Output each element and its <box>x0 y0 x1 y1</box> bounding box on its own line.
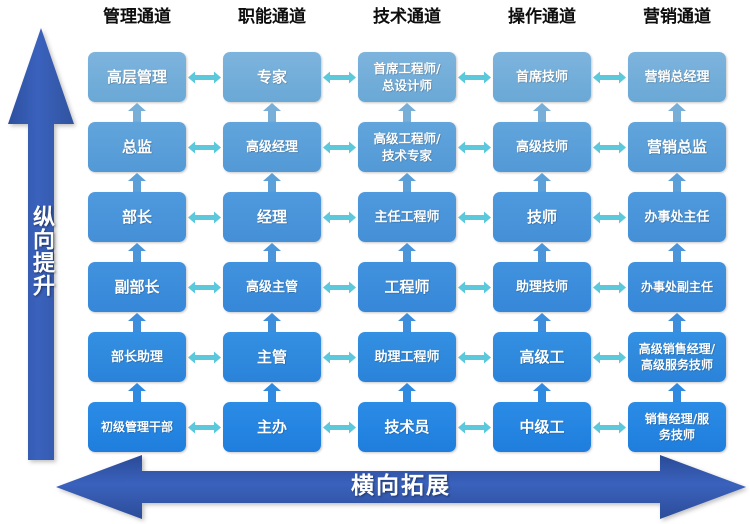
lateral-double-arrow-icon <box>593 421 626 434</box>
position-node[interactable]: 高级工程师/技术专家 <box>358 122 456 172</box>
position-node[interactable]: 主任工程师 <box>358 192 456 242</box>
position-node[interactable]: 专家 <box>223 52 321 102</box>
lateral-double-arrow-icon <box>458 421 491 434</box>
position-node[interactable]: 技师 <box>493 192 591 242</box>
lateral-double-arrow-icon <box>458 281 491 294</box>
promotion-up-arrow-icon <box>398 173 416 192</box>
grid-row: 部长 经理 主任工程师 <box>88 192 750 262</box>
lateral-double-arrow-icon <box>323 421 356 434</box>
column-header-marketing: 营销通道 <box>628 2 726 36</box>
lateral-double-arrow-icon <box>458 211 491 224</box>
promotion-up-arrow-icon <box>668 313 686 332</box>
promotion-up-arrow-icon <box>533 103 551 122</box>
lateral-double-arrow-icon <box>593 141 626 154</box>
position-node[interactable]: 技术员 <box>358 402 456 452</box>
grid-cell: 总监 <box>88 122 186 192</box>
grid-cell: 营销总监 <box>628 122 726 192</box>
grid-row: 初级管理干部 主办 技术员 中级工 <box>88 402 750 458</box>
grid-cell: 高级经理 <box>223 122 321 192</box>
position-node[interactable]: 高级技师 <box>493 122 591 172</box>
grid-cell: 部长 <box>88 192 186 262</box>
lateral-double-arrow-icon <box>458 351 491 364</box>
grid-cell: 办事处副主任 <box>628 262 726 332</box>
grid-cell: 首席技师 <box>493 52 591 122</box>
vertical-axis-label: 纵向提升 <box>28 205 54 297</box>
grid-cell: 高级工程师/技术专家 <box>358 122 456 192</box>
promotion-up-arrow-icon <box>668 243 686 262</box>
lateral-double-arrow-icon <box>323 351 356 364</box>
lateral-double-arrow-icon <box>188 141 221 154</box>
promotion-up-arrow-icon <box>533 313 551 332</box>
promotion-up-arrow-icon <box>668 383 686 402</box>
grid-cell: 部长助理 <box>88 332 186 402</box>
position-node[interactable]: 高层管理 <box>88 52 186 102</box>
grid-cell: 助理技师 <box>493 262 591 332</box>
lateral-double-arrow-icon <box>458 141 491 154</box>
column-header-technical: 技术通道 <box>358 2 456 36</box>
lateral-double-arrow-icon <box>593 71 626 84</box>
position-node[interactable]: 营销总监 <box>628 122 726 172</box>
grid-cell: 销售经理/服务技师 <box>628 402 726 458</box>
promotion-up-arrow-icon <box>263 103 281 122</box>
grid-cell: 营销总经理 <box>628 52 726 122</box>
promotion-up-arrow-icon <box>398 383 416 402</box>
promotion-up-arrow-icon <box>128 173 146 192</box>
position-node[interactable]: 高级主管 <box>223 262 321 312</box>
vertical-axis-label-wrap: 纵向提升 <box>8 205 74 297</box>
position-node[interactable]: 高级销售经理/高级服务技师 <box>628 332 726 382</box>
lateral-double-arrow-icon <box>323 71 356 84</box>
lateral-double-arrow-icon <box>593 211 626 224</box>
promotion-up-arrow-icon <box>128 103 146 122</box>
position-node[interactable]: 高级工 <box>493 332 591 382</box>
grid-row: 总监 高级经理 高级工程师/技术专家 <box>88 122 750 192</box>
horizontal-axis-label: 横向拓展 <box>56 472 746 500</box>
grid-cell: 副部长 <box>88 262 186 332</box>
promotion-up-arrow-icon <box>263 313 281 332</box>
grid-cell: 技师 <box>493 192 591 262</box>
lateral-double-arrow-icon <box>188 281 221 294</box>
column-header-management: 管理通道 <box>88 2 186 36</box>
lateral-double-arrow-icon <box>323 211 356 224</box>
position-node[interactable]: 主办 <box>223 402 321 452</box>
position-node[interactable]: 副部长 <box>88 262 186 312</box>
promotion-up-arrow-icon <box>398 313 416 332</box>
grid-cell: 助理工程师 <box>358 332 456 402</box>
promotion-up-arrow-icon <box>128 243 146 262</box>
position-node[interactable]: 初级管理干部 <box>88 402 186 452</box>
position-node[interactable]: 经理 <box>223 192 321 242</box>
grid-cell: 初级管理干部 <box>88 402 186 458</box>
promotion-up-arrow-icon <box>533 383 551 402</box>
lateral-double-arrow-icon <box>593 281 626 294</box>
position-grid: 高层管理 专家 首席工程师/总设计师 <box>88 52 750 458</box>
promotion-up-arrow-icon <box>398 103 416 122</box>
promotion-up-arrow-icon <box>398 243 416 262</box>
grid-cell: 高级销售经理/高级服务技师 <box>628 332 726 402</box>
promotion-up-arrow-icon <box>128 383 146 402</box>
lateral-double-arrow-icon <box>188 71 221 84</box>
column-header-functional: 职能通道 <box>223 2 321 36</box>
grid-cell: 中级工 <box>493 402 591 458</box>
lateral-double-arrow-icon <box>188 351 221 364</box>
grid-cell: 主管 <box>223 332 321 402</box>
promotion-up-arrow-icon <box>533 243 551 262</box>
position-node[interactable]: 高级经理 <box>223 122 321 172</box>
position-node[interactable]: 工程师 <box>358 262 456 312</box>
lateral-double-arrow-icon <box>458 71 491 84</box>
column-header-operations: 操作通道 <box>493 2 591 36</box>
lateral-double-arrow-icon <box>323 141 356 154</box>
lateral-double-arrow-icon <box>593 351 626 364</box>
grid-cell: 办事处主任 <box>628 192 726 262</box>
grid-cell: 经理 <box>223 192 321 262</box>
grid-row: 部长助理 主管 助理工程师 <box>88 332 750 402</box>
grid-cell: 主办 <box>223 402 321 458</box>
position-node[interactable]: 首席工程师/总设计师 <box>358 52 456 102</box>
promotion-up-arrow-icon <box>263 173 281 192</box>
promotion-up-arrow-icon <box>128 313 146 332</box>
promotion-up-arrow-icon <box>263 383 281 402</box>
column-headers: 管理通道 职能通道 技术通道 操作通道 营销通道 <box>88 2 750 36</box>
grid-cell: 主任工程师 <box>358 192 456 262</box>
grid-row: 高层管理 专家 首席工程师/总设计师 <box>88 52 750 122</box>
position-node[interactable]: 中级工 <box>493 402 591 452</box>
promotion-up-arrow-icon <box>533 173 551 192</box>
position-node[interactable]: 办事处副主任 <box>628 262 726 312</box>
grid-cell: 技术员 <box>358 402 456 458</box>
grid-cell: 专家 <box>223 52 321 122</box>
position-node[interactable]: 助理工程师 <box>358 332 456 382</box>
position-node[interactable]: 部长助理 <box>88 332 186 382</box>
lateral-double-arrow-icon <box>323 281 356 294</box>
career-ladder-diagram: 管理通道 职能通道 技术通道 操作通道 营销通道 高层管理 专家 <box>0 0 750 524</box>
lateral-double-arrow-icon <box>188 421 221 434</box>
grid-row: 副部长 高级主管 工程师 <box>88 262 750 332</box>
position-node[interactable]: 销售经理/服务技师 <box>628 402 726 452</box>
promotion-up-arrow-icon <box>263 243 281 262</box>
position-node[interactable]: 助理技师 <box>493 262 591 312</box>
grid-cell: 高级主管 <box>223 262 321 332</box>
position-node[interactable]: 总监 <box>88 122 186 172</box>
grid-cell: 高层管理 <box>88 52 186 122</box>
grid-cell: 首席工程师/总设计师 <box>358 52 456 122</box>
grid-cell: 高级技师 <box>493 122 591 192</box>
position-node[interactable]: 主管 <box>223 332 321 382</box>
position-node[interactable]: 首席技师 <box>493 52 591 102</box>
lateral-double-arrow-icon <box>188 211 221 224</box>
position-node[interactable]: 营销总经理 <box>628 52 726 102</box>
promotion-up-arrow-icon <box>668 173 686 192</box>
position-node[interactable]: 部长 <box>88 192 186 242</box>
grid-cell: 高级工 <box>493 332 591 402</box>
position-node[interactable]: 办事处主任 <box>628 192 726 242</box>
grid-cell: 工程师 <box>358 262 456 332</box>
promotion-up-arrow-icon <box>668 103 686 122</box>
